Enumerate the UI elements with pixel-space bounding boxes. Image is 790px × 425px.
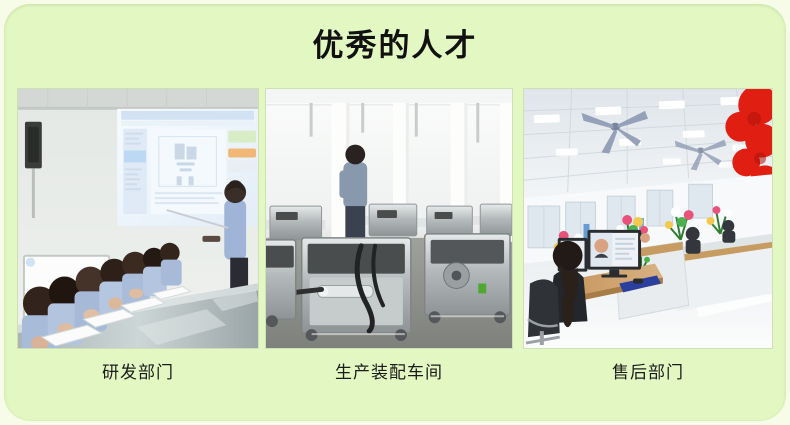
photo-assembly-workshop — [265, 88, 513, 349]
photo-office-illustration — [524, 89, 772, 348]
rounded-panel: 优秀的人才 — [4, 4, 786, 421]
photo-rd-illustration — [18, 89, 258, 348]
photo-rd-department — [17, 88, 259, 349]
caption-rd-department: 研发部门 — [17, 360, 259, 386]
promo-banner: 优秀的人才 — [0, 0, 790, 425]
photo-after-sales-office — [523, 88, 773, 349]
photo-workshop-illustration — [266, 89, 512, 348]
caption-assembly-workshop: 生产装配车间 — [265, 360, 513, 386]
caption-after-sales-department: 售后部门 — [523, 360, 773, 386]
page-title: 优秀的人才 — [4, 30, 786, 61]
